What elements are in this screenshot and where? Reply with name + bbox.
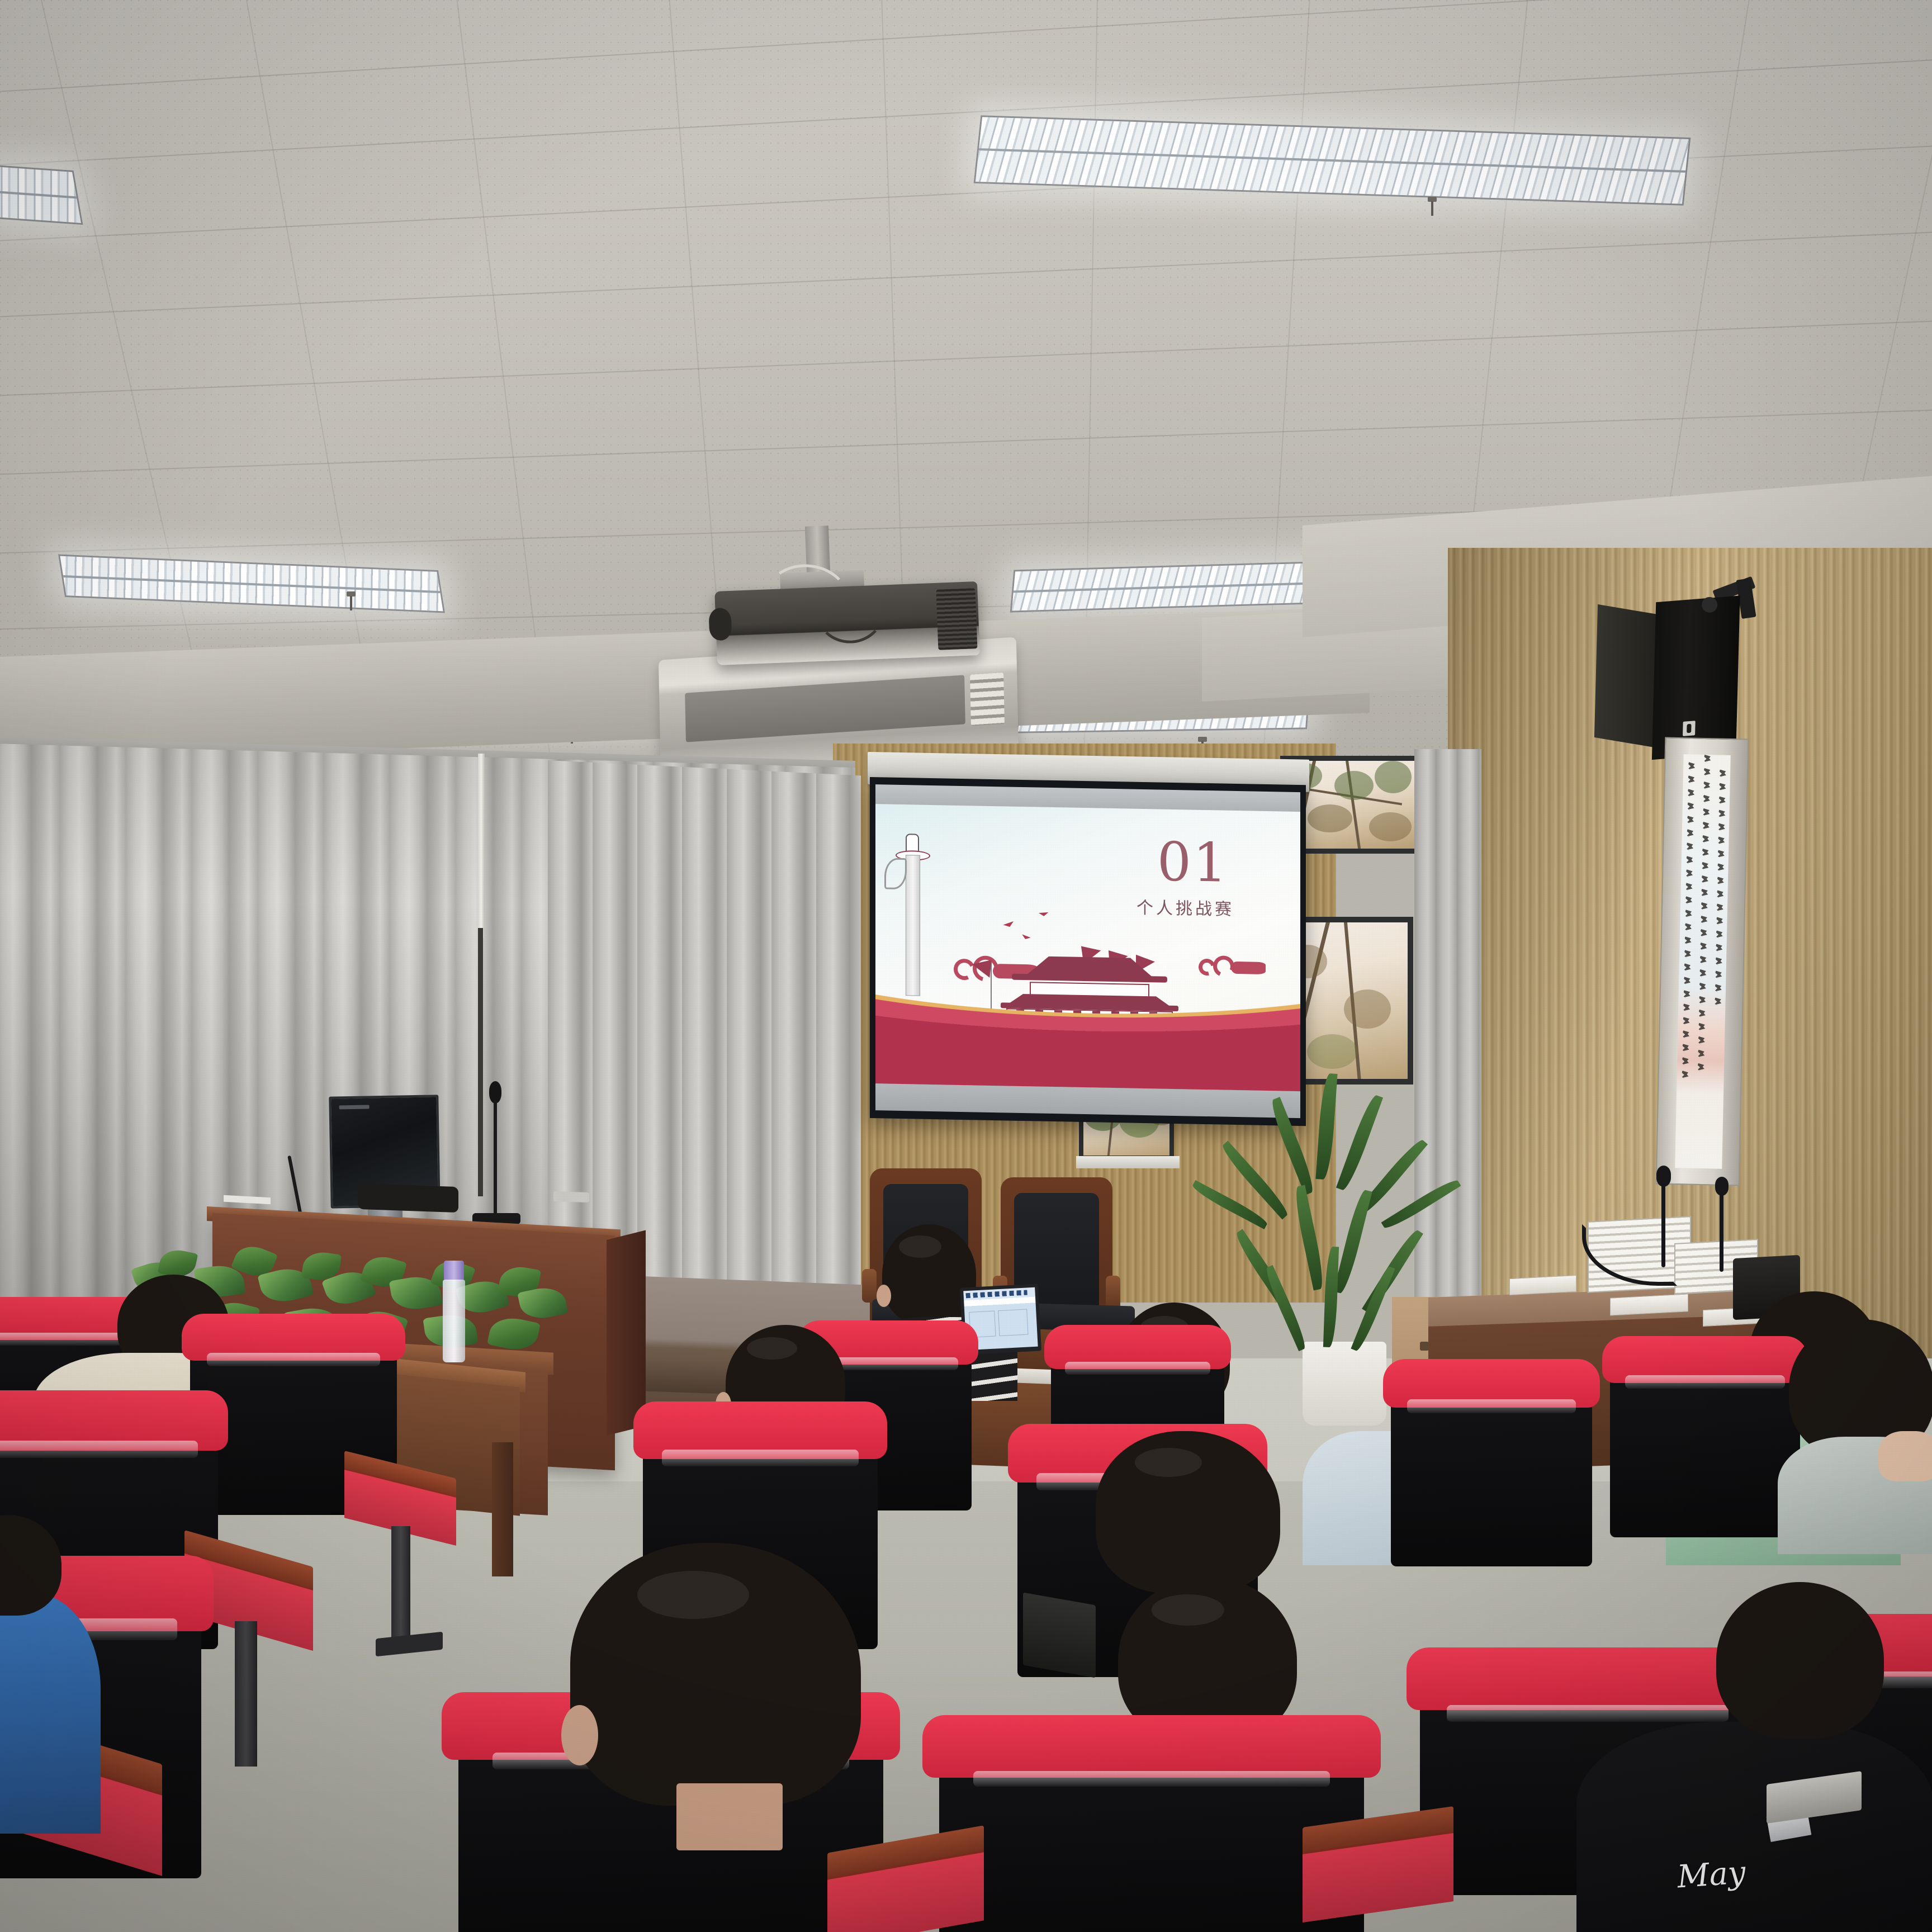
projection-screen[interactable]: 01 个人挑战赛 [870,777,1306,1126]
slide-ribbon-front [875,970,1300,1091]
attendee-right-edge [1778,1319,1932,1554]
bottle-body [443,1280,465,1362]
attendee-foreground-center [570,1543,883,1856]
calligraphy-scroll [1656,737,1749,1186]
speaker-front-grille [1652,595,1740,760]
seat-leg-left-mid [391,1526,410,1644]
seat-writing-tablet-1[interactable] [1023,1593,1096,1678]
sprinkler-head-1 [1428,197,1437,216]
podium-device [553,1191,589,1202]
speaker-side-panel [1594,604,1658,747]
speaker-brand-logo [1683,721,1696,736]
document-tray-1 [1509,1275,1576,1295]
projector-vent [936,588,977,650]
attendee-black-jacket [1576,1677,1932,1932]
seat-leg-left-front [235,1621,257,1767]
huabiao-cloud-wing [884,858,907,889]
slide-surface: 01 个人挑战赛 [875,804,1300,1091]
water-bottle[interactable] [442,1261,466,1361]
slide-section-subtitle: 个人挑战赛 [1137,894,1234,920]
ceiling-light-far-left [0,164,83,225]
slide-section-number: 01 [1157,830,1229,894]
desk-microphone-2[interactable] [1711,1177,1735,1266]
bird-icon-2 [1021,934,1031,941]
conference-room-photo: 01 个人挑战赛 [0,0,1932,1932]
attendee-blue-coat [0,1543,101,1834]
wall-mounted-loudspeaker [1594,586,1744,758]
curtain-pull-rod-upper[interactable] [478,754,485,938]
window-glass [1290,922,1408,1079]
bottle-cap [444,1261,464,1281]
ceiling-mounted-projector [713,531,1009,699]
seat-mid-3[interactable] [1391,1365,1592,1566]
seat-mid-4[interactable] [1610,1342,1800,1537]
front-table-leg [492,1442,513,1576]
projector-lens [708,608,732,641]
bird-icon-3 [1039,912,1049,917]
podium-cable-bundle [358,1183,458,1213]
podium-right-face [607,1230,646,1436]
sprinkler-head-2 [347,591,356,610]
window-sill [1076,1156,1180,1168]
bird-icon-1 [1003,921,1015,929]
jacket-script-logo: May [1676,1853,1768,1892]
podium-microphone-right[interactable] [472,1085,523,1230]
seat-front-right[interactable] [939,1722,1364,1932]
monitor-brand-label [339,1105,370,1109]
